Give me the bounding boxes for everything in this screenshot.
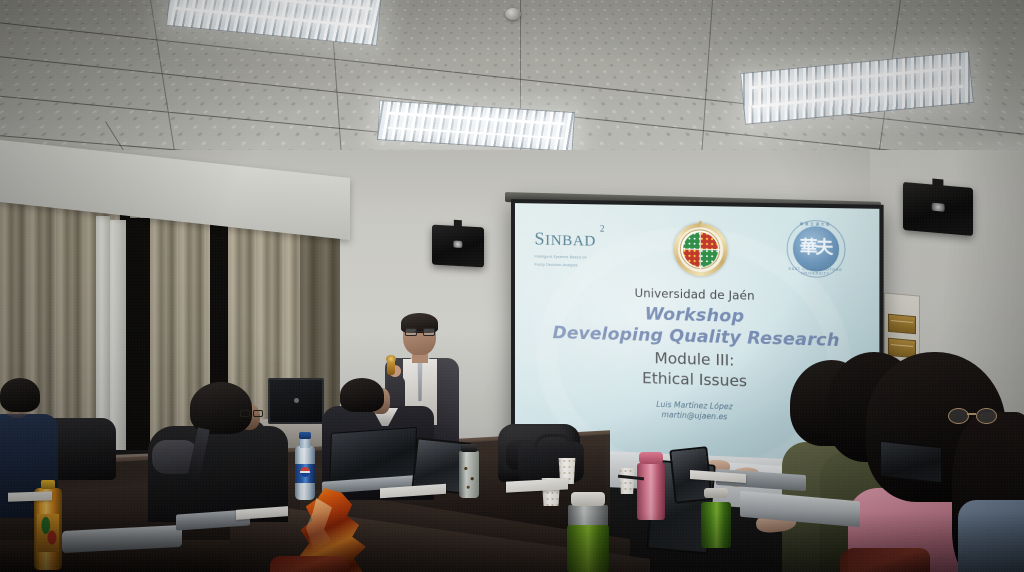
sinbad-logo: SSINBADINBAD2 Intelligent Systems Based … (534, 229, 596, 268)
wall-speaker-left (432, 225, 484, 268)
sinbad-wordmark: SSINBADINBAD2 (534, 229, 596, 249)
red-decorative-cloth (270, 556, 350, 572)
attendee-black-tee (148, 382, 298, 522)
red-decorative-cloth-2 (840, 548, 930, 572)
pepsi-logo-icon (300, 467, 310, 477)
green-sleeve-water-bottle (566, 492, 610, 572)
cn-seal-arc-bottom: EAST CHINA JIAOTONG UNIVERSITY (786, 266, 845, 275)
paper-sheet-5 (8, 491, 52, 502)
pepsi-bottle (294, 432, 316, 500)
wall-speaker-right (903, 182, 973, 236)
chinese-university-seal-icon: 華東交通大學 華夫 EAST CHINA JIAOTONG UNIVERSITY (786, 219, 845, 278)
sinbad-superscript: 2 (600, 224, 605, 233)
conference-room-photo: SSINBADINBAD2 Intelligent Systems Based … (0, 0, 1024, 572)
tea-thermos-glass (459, 444, 479, 498)
paper-cup-2 (618, 468, 636, 494)
sinbad-subtitle-line2: Fuzzy Decision Analysis (534, 261, 596, 268)
laptop-right (880, 441, 942, 484)
attendee-glasses-icon (240, 410, 262, 415)
universidad-de-jaen-seal-icon (674, 223, 728, 277)
presenter-glasses-icon (405, 328, 433, 334)
green-sleeve-water-bottle-2 (700, 488, 732, 548)
attendee-pink-glasses-icon (948, 408, 996, 422)
pink-thermos (637, 452, 665, 520)
sinbad-subtitle-line1: Intelligent Systems Based on (534, 253, 596, 260)
microphone-head (386, 355, 396, 363)
smoke-detector (505, 8, 521, 20)
attendee-denim (958, 500, 1024, 572)
